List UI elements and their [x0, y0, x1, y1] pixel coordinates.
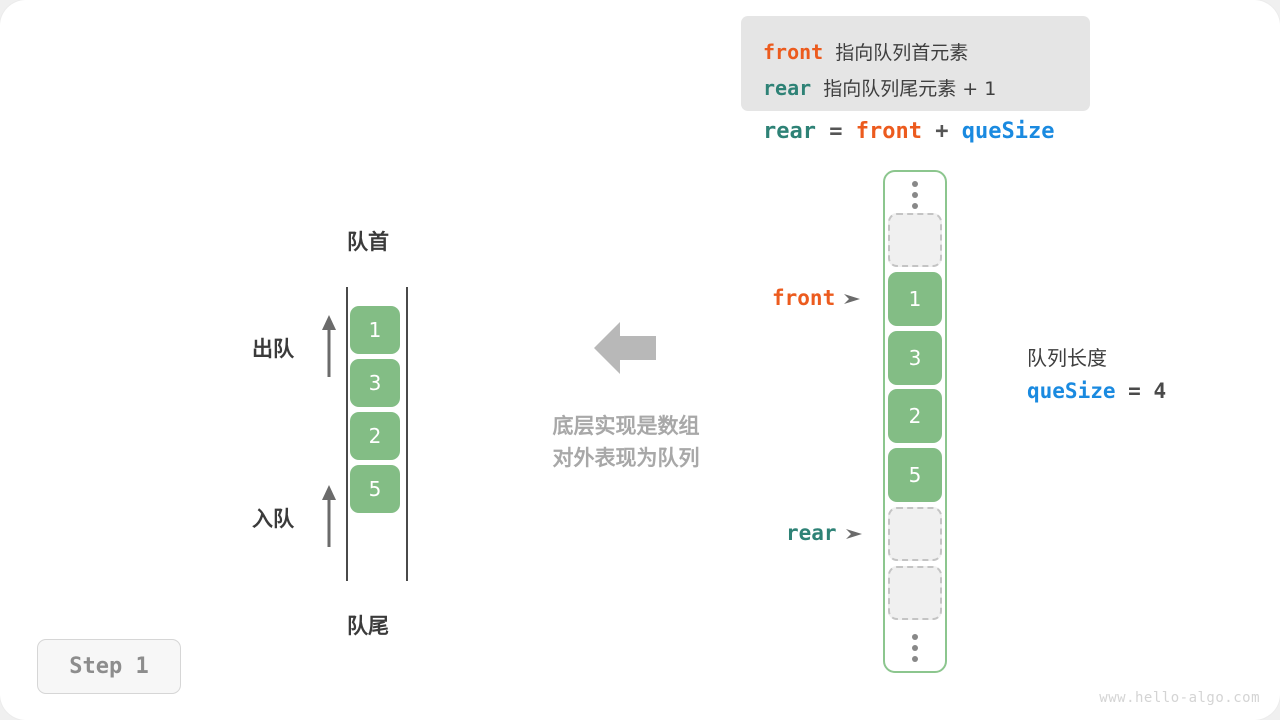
queue-head-label: 队首 [347, 226, 389, 256]
legend-text-rear: 指向队列尾元素 + 1 [823, 78, 996, 100]
array-bottom-ellipsis-icon [908, 634, 922, 662]
array-slot [888, 566, 942, 620]
array-slot: 5 [888, 448, 942, 502]
center-note-line2: 对外表现为队列 [531, 442, 721, 474]
legend-box: front 指向队列首元素 rear 指向队列尾元素 + 1 [741, 16, 1090, 111]
front-pointer-label: front [772, 286, 835, 310]
quesize-token: queSize [1027, 379, 1116, 403]
enqueue-arrow-icon [319, 485, 339, 551]
diagram-canvas: front 指向队列首元素 rear 指向队列尾元素 + 1 rear = fr… [0, 0, 1280, 720]
array-slot: 3 [888, 331, 942, 385]
legend-token-front: front [763, 40, 823, 64]
queue-cell: 2 [350, 412, 400, 460]
rear-pointer: rear [786, 521, 862, 545]
front-pointer: front [772, 286, 860, 310]
quesize-equals: = [1128, 379, 1141, 403]
formula-equals: = [829, 119, 842, 144]
step-badge: Step 1 [37, 639, 181, 694]
queue-cell: 3 [350, 359, 400, 407]
dequeue-arrow-icon [319, 315, 339, 381]
quesize-value: 4 [1153, 379, 1166, 403]
array-top-ellipsis-icon [908, 181, 922, 209]
formula-rear-equals: rear = front + queSize [763, 119, 1054, 144]
watermark: www.hello-algo.com [1099, 690, 1260, 706]
array-slot [888, 213, 942, 267]
array-slot: 2 [888, 389, 942, 443]
formula-plus: + [935, 119, 948, 144]
queue-size-expression: queSize = 4 [1027, 379, 1166, 403]
array-slot: 1 [888, 272, 942, 326]
queue-tail-label: 队尾 [347, 610, 389, 640]
formula-rhs-front: front [856, 119, 922, 144]
formula-lhs: rear [763, 119, 816, 144]
queue-rail-left [346, 287, 348, 581]
legend-line-front: front 指向队列首元素 [763, 38, 968, 65]
array-slot [888, 507, 942, 561]
queue-size-caption: 队列长度 [1027, 342, 1166, 371]
queue-size-note: 队列长度 queSize = 4 [1027, 342, 1166, 403]
legend-line-rear: rear 指向队列尾元素 + 1 [763, 74, 996, 101]
queue-cell: 5 [350, 465, 400, 513]
formula-rhs-quesize: queSize [962, 119, 1055, 144]
center-note: 底层实现是数组 对外表现为队列 [531, 410, 721, 474]
rear-pointer-label: rear [786, 521, 837, 545]
legend-text-front: 指向队列首元素 [835, 42, 968, 64]
dequeue-label: 出队 [252, 333, 294, 363]
legend-token-rear: rear [763, 76, 811, 100]
center-note-line1: 底层实现是数组 [531, 410, 721, 442]
arrowhead-right-icon [844, 286, 860, 310]
left-arrow-icon [594, 320, 656, 380]
queue-cell: 1 [350, 306, 400, 354]
queue-rail-right [406, 287, 408, 581]
arrowhead-right-icon [846, 521, 862, 545]
enqueue-label: 入队 [252, 503, 294, 533]
